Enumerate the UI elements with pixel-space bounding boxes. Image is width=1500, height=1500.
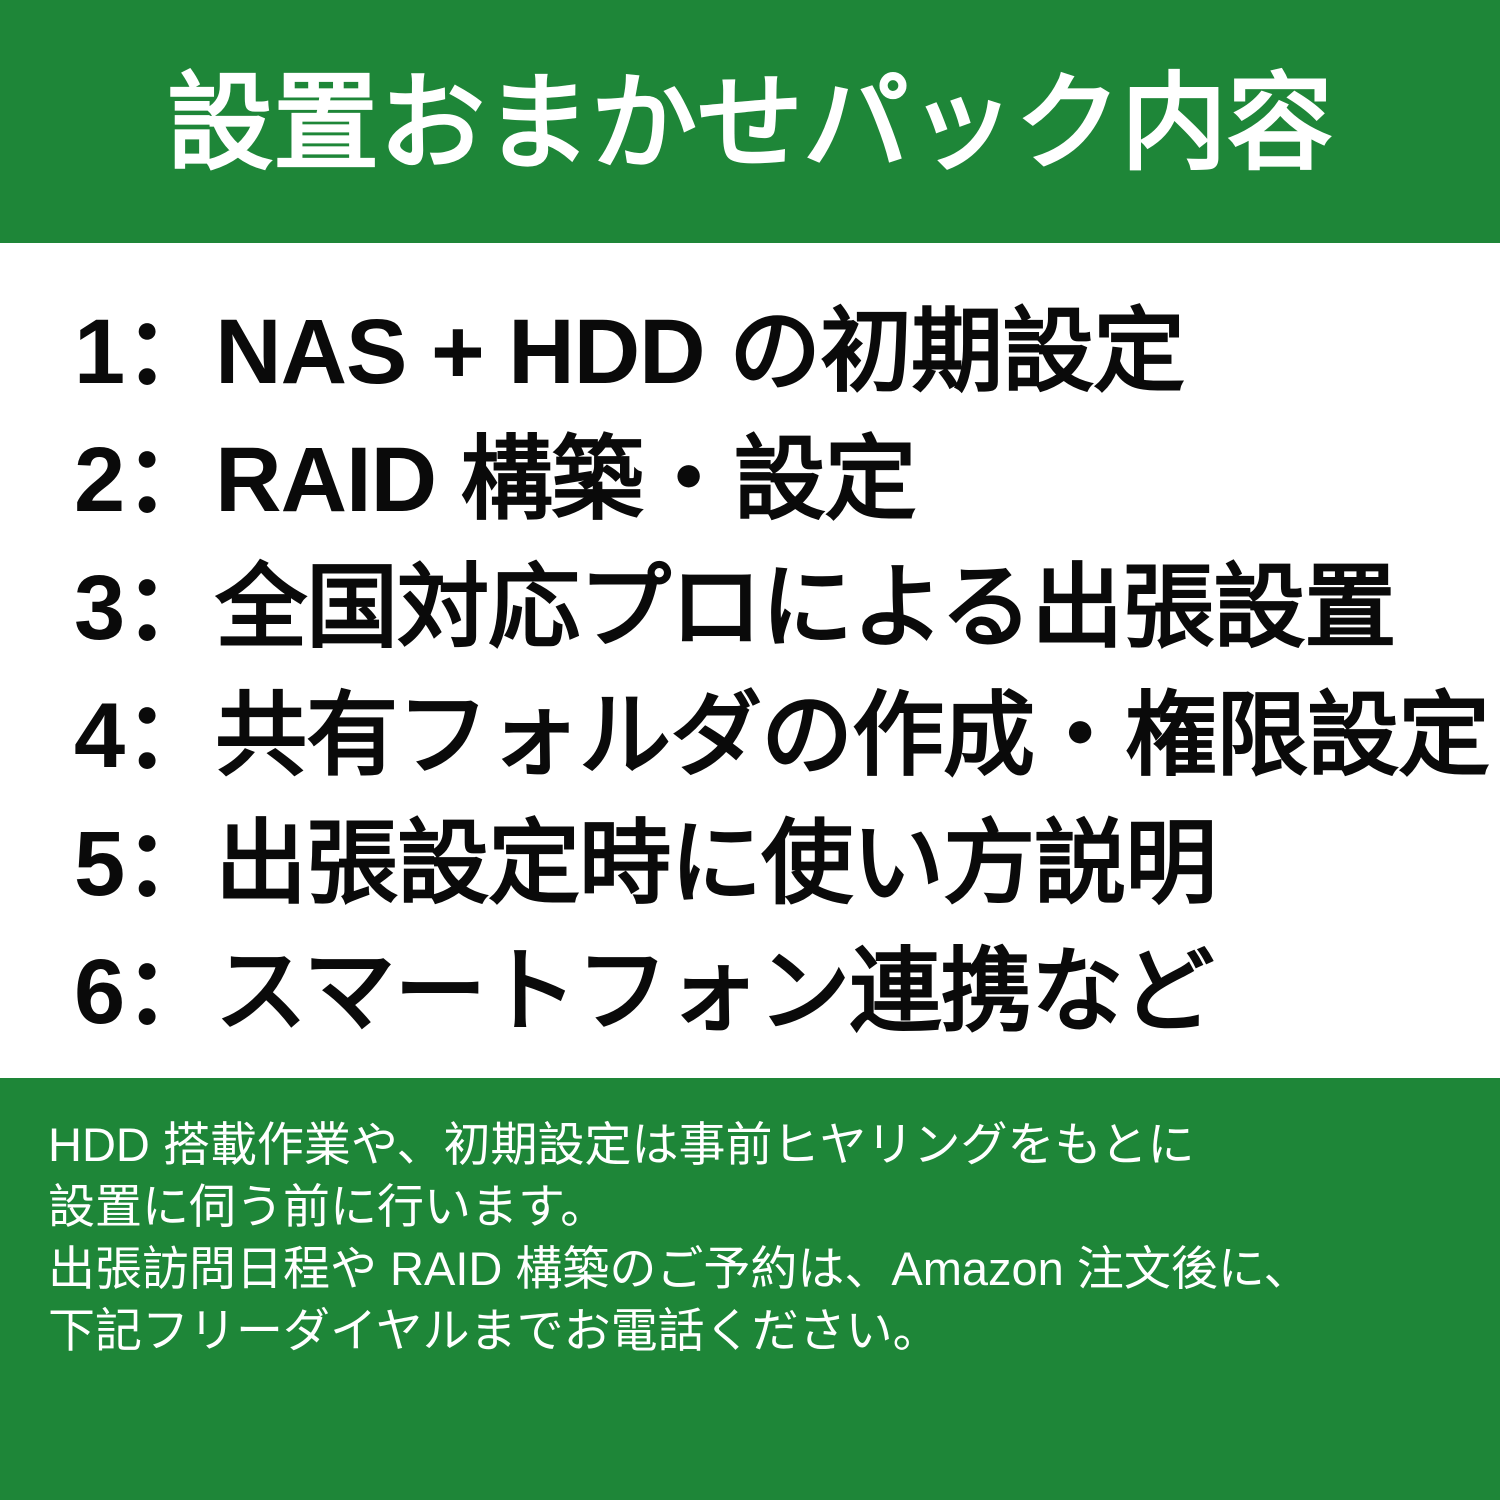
list-item: 4：共有フォルダの作成・権限設定 <box>0 672 1500 800</box>
footer-note-line: 設置に伺う前に行います。 <box>48 1176 1500 1238</box>
header-band: 設置おまかせパック内容 <box>0 0 1500 243</box>
footer-note-line: HDD 搭載作業や、初期設定は事前ヒヤリングをもとに <box>48 1114 1500 1176</box>
list-item-label: 4：共有フォルダの作成・権限設定 <box>74 690 1489 782</box>
page-title: 設置おまかせパック内容 <box>167 71 1333 177</box>
promotional-banner: 設置おまかせパック内容 1：NAS + HDD の初期設定 2：RAID 構築・… <box>0 0 1500 1500</box>
list-item-label: 5：出張設定時に使い方説明 <box>74 818 1216 910</box>
service-list: 1：NAS + HDD の初期設定 2：RAID 構築・設定 3：全国対応プロに… <box>0 243 1500 1078</box>
list-item-label: 6：スマートフォン連携など <box>74 946 1213 1038</box>
list-item-label: 2：RAID 構築・設定 <box>74 434 916 526</box>
list-item: 5：出張設定時に使い方説明 <box>0 800 1500 928</box>
list-item-label: 1：NAS + HDD の初期設定 <box>74 306 1184 398</box>
list-item: 1：NAS + HDD の初期設定 <box>0 288 1500 416</box>
footer-note-line: 下記フリーダイヤルまでお電話ください。 <box>48 1300 1500 1362</box>
footer-note-line: 出張訪問日程や RAID 構築のご予約は、Amazon 注文後に、 <box>48 1238 1500 1300</box>
list-item: 6：スマートフォン連携など <box>0 928 1500 1056</box>
list-item-label: 3：全国対応プロによる出張設置 <box>74 562 1395 654</box>
list-item: 2：RAID 構築・設定 <box>0 416 1500 544</box>
list-item: 3：全国対応プロによる出張設置 <box>0 544 1500 672</box>
footer-band: HDD 搭載作業や、初期設定は事前ヒヤリングをもとに 設置に伺う前に行います。 … <box>0 1078 1500 1500</box>
